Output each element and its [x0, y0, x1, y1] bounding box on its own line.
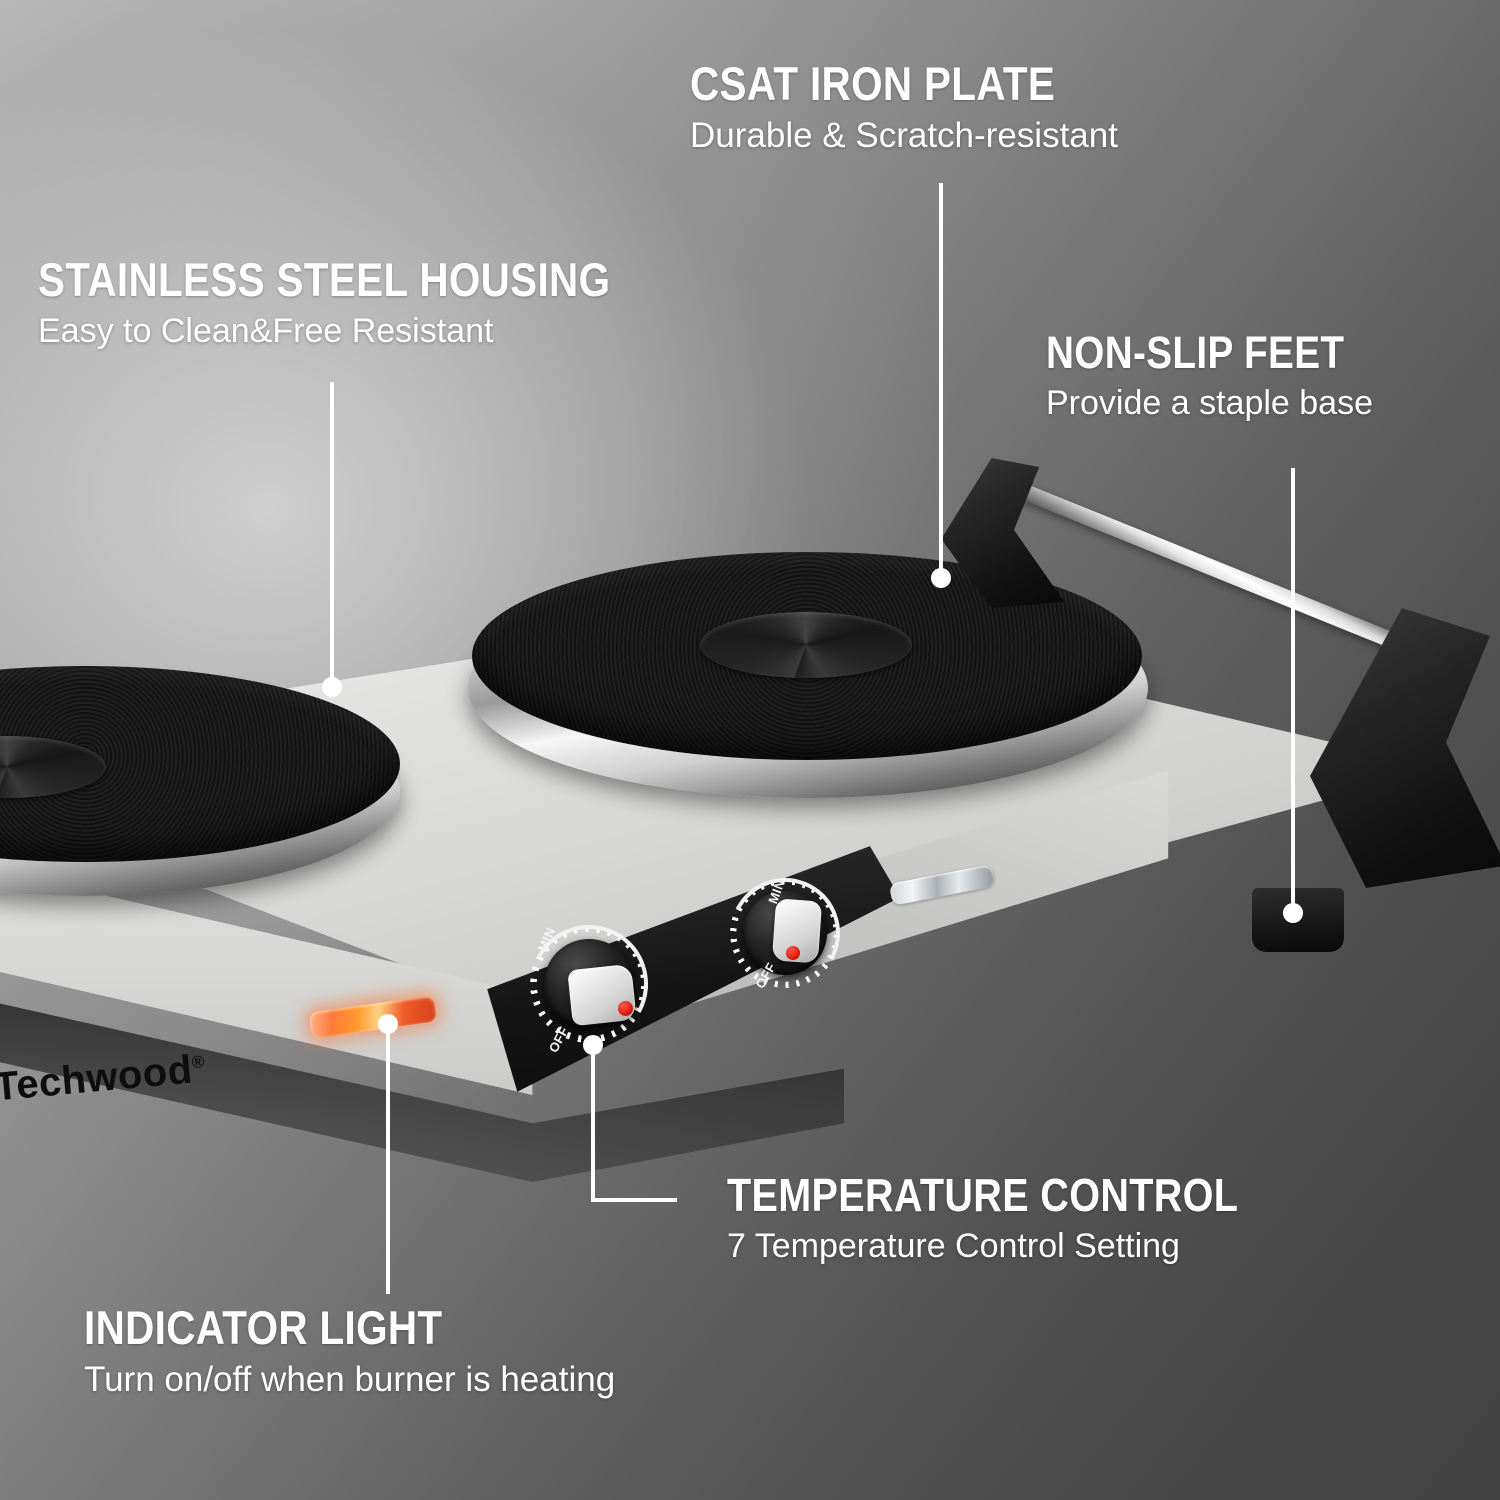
callout-non-slip-feet: NON-SLIP FEET Provide a staple base [1046, 330, 1393, 423]
leader-dot-csat-iron-plate [931, 568, 951, 588]
callout-indicator-light-subtitle: Turn on/off when burner is heating [84, 1360, 615, 1400]
callout-temperature-control-subtitle: 7 Temperature Control Setting [727, 1227, 1322, 1266]
rear-knob-red-indicator [786, 946, 800, 960]
callout-csat-iron-plate-title: CSAT IRON PLATE [690, 60, 1058, 107]
callout-stainless-steel-housing-subtitle: Easy to Clean&Free Resistant [38, 312, 704, 351]
leader-line-csat-iron-plate [939, 183, 943, 575]
leader-line-stainless-steel-housing [330, 382, 334, 684]
product-photo: MIN OFF MIN OFF Techwood® [0, 0, 1500, 1500]
leader-line-indicator-light [386, 1028, 390, 1294]
callout-indicator-light: INDICATOR LIGHT Turn on/off when burner … [84, 1304, 615, 1400]
callout-csat-iron-plate: CSAT IRON PLATE Durable & Scratch-resist… [690, 60, 1118, 156]
infographic-canvas: MIN OFF MIN OFF Techwood® C [0, 0, 1500, 1500]
rear-temperature-knob[interactable] [730, 878, 840, 988]
callout-indicator-light-title: INDICATOR LIGHT [84, 1304, 541, 1351]
callout-temperature-control: TEMPERATURE CONTROL 7 Temperature Contro… [727, 1172, 1322, 1266]
callout-non-slip-feet-subtitle: Provide a staple base [1046, 384, 1393, 423]
brand-trademark-symbol: ® [191, 1052, 206, 1072]
leader-dot-stainless-steel-housing [322, 677, 342, 697]
callout-non-slip-feet-title: NON-SLIP FEET [1046, 330, 1344, 375]
leader-dot-non-slip-feet [1283, 903, 1303, 923]
callout-stainless-steel-housing-title: STAINLESS STEEL HOUSING [38, 256, 610, 303]
front-knob-pointer [567, 964, 637, 1026]
front-knob-red-indicator [618, 1001, 633, 1016]
callout-temperature-control-title: TEMPERATURE CONTROL [727, 1172, 1238, 1218]
leader-line-temperature-control-horizontal [591, 1198, 677, 1202]
right-burner-center-hub [700, 612, 912, 678]
handle-bracket-right [1306, 608, 1500, 888]
callout-stainless-steel-housing: STAINLESS STEEL HOUSING Easy to Clean&Fr… [38, 256, 704, 351]
callout-csat-iron-plate-subtitle: Durable & Scratch-resistant [690, 116, 1118, 156]
leader-line-non-slip-feet [1291, 468, 1295, 912]
leader-line-temperature-control-vertical [591, 1048, 595, 1202]
